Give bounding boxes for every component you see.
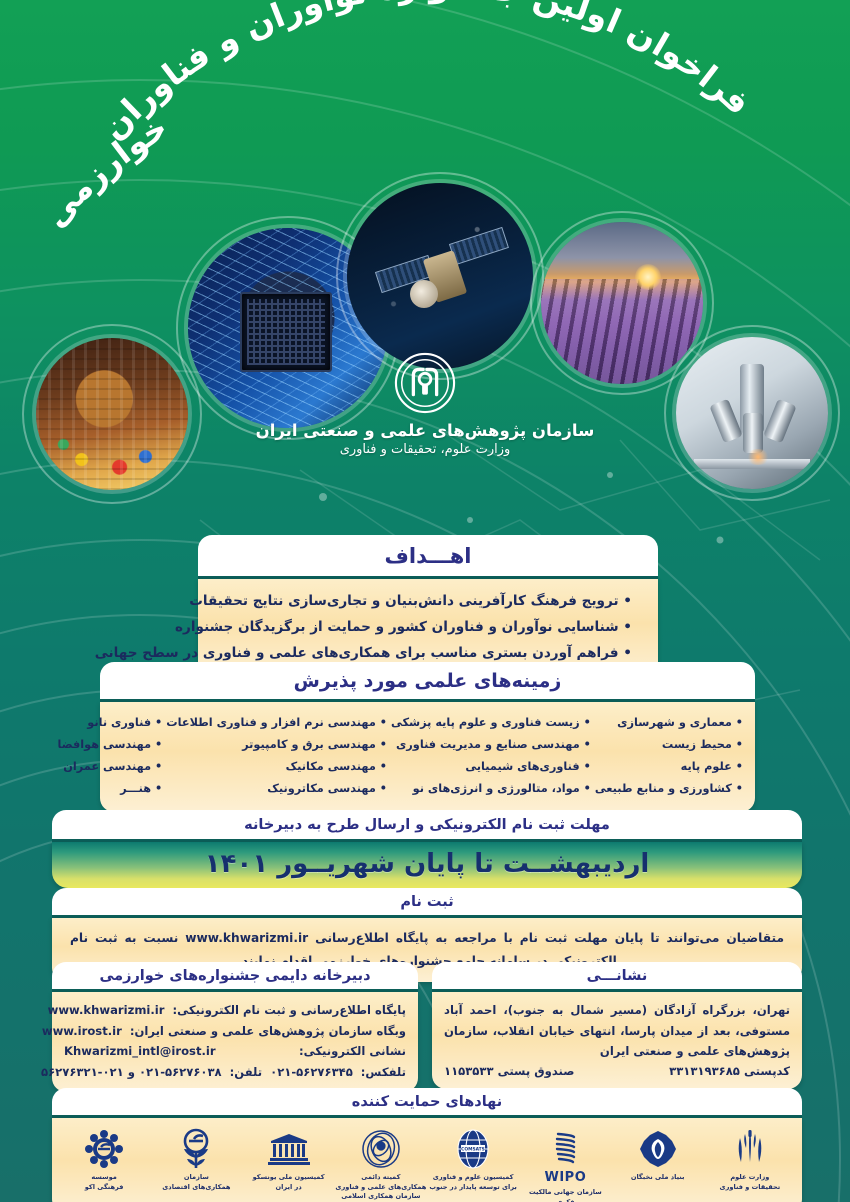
goal-item: ترویج فرهنگ کارآفرینی دانش‌بنیان و تجاری…	[224, 589, 632, 615]
field-item: فناوری‌های شیمیایی	[391, 756, 591, 778]
field-item: مهندسی برق و کامپیوتر	[166, 734, 387, 756]
eco-organization-icon	[150, 1128, 242, 1170]
sponsor-item: موسسه فرهنگی اکو	[58, 1128, 150, 1192]
fields-title: زمینه‌های علمی مورد پذیرش	[100, 662, 755, 699]
sponsor-item: سازمان همکاری‌های اقتصادی	[150, 1128, 242, 1192]
sun-glow	[635, 264, 661, 290]
organization-block: سازمان پژوهش‌های علمی و صنعتی ایران وزار…	[0, 352, 850, 459]
postcode-value: ۳۳۱۳۱۹۳۶۸۵	[669, 1064, 740, 1078]
title-line-2: خوارزمی	[35, 107, 174, 234]
satellite-photo	[347, 183, 533, 369]
deadline-value: اردیبهشــت تا پایان شهریــور ۱۴۰۱	[205, 849, 650, 879]
goal-item: شناسایی نوآوران و فناوران کشور و حمایت ا…	[224, 615, 632, 641]
deadline-panel: مهلت ثبت نام الکترونیکی و ارسال طرح به د…	[52, 810, 802, 888]
secretariat-panel: دبیرخانه دایمی جشنواره‌های خوارزمی پایگا…	[52, 962, 418, 1092]
title-line-1: فراخوان اولین جشنواره نوآوران و فناوران	[94, 0, 759, 147]
secretariat-key: پایگاه اطلاع‌رسانی و ثبت نام الکترونیکی:	[173, 1000, 407, 1021]
sponsor-caption: سازمان همکاری‌های اقتصادی	[150, 1173, 242, 1192]
svg-text:COMSATS: COMSATS	[461, 1147, 485, 1153]
fields-column-1: معماری و شهرسازی محیط زیست علوم پایه کشا…	[595, 712, 743, 800]
secretariat-row: نشانی الکترونیکی: Khwarizmi_intl@irost.i…	[64, 1041, 406, 1062]
fields-column-4: فناوری نانو مهندسی هوافضا مهندسی عمران ه…	[58, 712, 163, 800]
comstech-spiral-icon	[335, 1128, 427, 1170]
sponsor-item: COMSATS کمیسیون علوم و فناوری برای توسعه…	[427, 1128, 519, 1192]
organization-name: سازمان پژوهش‌های علمی و صنعتی ایران	[0, 420, 850, 441]
pobox: صندوق پستی ۱۱۵۳۵۳۳	[444, 1064, 574, 1078]
wipo-wordmark: WIPO	[519, 1170, 611, 1185]
phone-label: تلفن:	[230, 1062, 263, 1083]
field-item: هنـــر	[58, 778, 163, 800]
secretariat-key: نشانی الکترونیکی:	[299, 1041, 406, 1062]
irost-logo-icon	[394, 352, 456, 414]
svg-text:خوارزمی: خوارزمی	[35, 107, 174, 234]
deadline-banner: اردیبهشــت تا پایان شهریــور ۱۴۰۱	[52, 842, 802, 888]
solar-panel-right	[449, 227, 509, 265]
field-item: فناوری نانو	[58, 712, 163, 734]
sponsor-item: کمیسیون ملی یونسکو در ایران	[243, 1128, 335, 1192]
secretariat-title: دبیرخانه دایمی جشنواره‌های خوارزمی	[52, 962, 418, 989]
field-item: زیست فناوری و علوم پایه پزشکی	[391, 712, 591, 734]
phone-value: ۰۲۱-۵۶۲۷۶۰۳۸ و ۰۲۱-۵۶۲۷۶۳۲۱	[41, 1062, 222, 1083]
sponsor-caption: موسسه فرهنگی اکو	[58, 1173, 150, 1192]
fax-label: تلفکس:	[361, 1062, 406, 1083]
sponsor-caption: بنیاد ملی نخبگان	[612, 1173, 704, 1183]
website-link[interactable]: www.irost.ir	[42, 1021, 122, 1042]
postcode-label: کدپستی	[744, 1064, 790, 1078]
unesco-icon	[243, 1128, 335, 1170]
sponsor-item: کمیته دائمی همکاری‌های علمی و فناوری ساز…	[335, 1128, 427, 1202]
svg-text:فراخوان اولین جشنواره نوآوران: فراخوان اولین جشنواره نوآوران و فناوران	[94, 0, 759, 147]
goals-title: اهـــداف	[198, 535, 658, 576]
field-item: مواد، متالورژی و انرژی‌های نو	[391, 778, 591, 800]
registration-title: ثبت نام	[52, 888, 802, 915]
field-item: مهندسی نرم افزار و فناوری اطلاعات	[166, 712, 387, 734]
goals-panel: اهـــداف ترویج فرهنگ کارآفرینی دانش‌بنیا…	[198, 535, 658, 678]
address-body: تهران، بزرگراه آزادگان (مسیر شمال به جنو…	[432, 992, 802, 1089]
sponsor-caption: کمیسیون ملی یونسکو در ایران	[243, 1173, 335, 1192]
sponsor-caption: سازمان جهانی مالکیت فکری	[519, 1188, 611, 1202]
secretariat-row: پایگاه اطلاع‌رسانی و ثبت نام الکترونیکی:…	[64, 1000, 406, 1021]
poster-canvas: فراخوان اولین جشنواره نوآوران و فناوران …	[0, 0, 850, 1202]
secretariat-body: پایگاه اطلاع‌رسانی و ثبت نام الکترونیکی:…	[52, 992, 418, 1092]
sponsor-caption: کمیته دائمی همکاری‌های علمی و فناوری ساز…	[335, 1173, 427, 1202]
ministry-name: وزارت علوم، تحقیقات و فناوری	[0, 442, 850, 459]
goals-list: ترویج فرهنگ کارآفرینی دانش‌بنیان و تجاری…	[224, 589, 632, 666]
fields-column-3: مهندسی نرم افزار و فناوری اطلاعات مهندسی…	[166, 712, 387, 800]
field-item: مهندسی مکانیک	[166, 756, 387, 778]
email-link[interactable]: Khwarizmi_intl@irost.ir	[64, 1041, 216, 1062]
eco-flower-icon	[58, 1128, 150, 1170]
sponsor-item: WIPO سازمان جهانی مالکیت فکری	[519, 1128, 611, 1202]
address-panel: نشانـــی تهران، بزرگراه آزادگان (مسیر شم…	[432, 962, 802, 1089]
sponsor-caption: کمیسیون علوم و فناوری برای توسعه پایدار …	[427, 1173, 519, 1192]
field-item: مهندسی هوافضا	[58, 734, 163, 756]
sponsors-body: وزارت علوم تحقیقات و فناوری بنیاد ملی نخ…	[52, 1118, 802, 1202]
field-item: علوم پایه	[595, 756, 743, 778]
field-item: کشاورزی و منابع طبیعی	[595, 778, 743, 800]
wipo-icon	[519, 1128, 611, 1170]
comsats-globe-icon: COMSATS	[427, 1128, 519, 1170]
sponsor-caption: وزارت علوم تحقیقات و فناوری	[704, 1173, 796, 1192]
fields-body: معماری و شهرسازی محیط زیست علوم پایه کشا…	[100, 702, 755, 812]
ministry-science-icon	[704, 1128, 796, 1170]
satellite-dish	[410, 280, 438, 308]
field-item: محیط زیست	[595, 734, 743, 756]
fax-value: ۰۲۱-۵۶۲۷۶۳۴۵	[270, 1062, 353, 1083]
secretariat-key: وبگاه سازمان پژوهش‌های علمی و صنعتی ایرا…	[130, 1021, 406, 1042]
fields-panel: زمینه‌های علمی مورد پذیرش معماری و شهرسا…	[100, 662, 755, 812]
postcode: کدپستی ۳۳۱۳۱۹۳۶۸۵	[669, 1064, 790, 1078]
national-elites-icon	[612, 1128, 704, 1170]
pobox-value: ۱۱۵۳۵۳۳	[444, 1064, 494, 1078]
sponsors-panel: نهادهای حمایت کننده	[52, 1088, 802, 1202]
field-item: مهندسی عمران	[58, 756, 163, 778]
field-item: معماری و شهرسازی	[595, 712, 743, 734]
secretariat-contact-row: تلفکس: ۰۲۱-۵۶۲۷۶۳۴۵ تلفن: ۰۲۱-۵۶۲۷۶۰۳۸ و…	[64, 1062, 406, 1083]
sponsors-title: نهادهای حمایت کننده	[52, 1088, 802, 1115]
field-item: مهندسی صنایع و مدیریت فناوری	[391, 734, 591, 756]
fields-column-2: زیست فناوری و علوم پایه پزشکی مهندسی صنا…	[391, 712, 591, 800]
address-title: نشانـــی	[432, 962, 802, 989]
secretariat-row: وبگاه سازمان پژوهش‌های علمی و صنعتی ایرا…	[64, 1021, 406, 1042]
sponsor-item: بنیاد ملی نخبگان	[612, 1128, 704, 1183]
website-link[interactable]: www.khwarizmi.ir	[48, 1000, 165, 1021]
address-text: تهران، بزرگراه آزادگان (مسیر شمال به جنو…	[444, 1000, 790, 1062]
sponsor-item: وزارت علوم تحقیقات و فناوری	[704, 1128, 796, 1192]
field-item: مهندسی مکاترونیک	[166, 778, 387, 800]
deadline-title: مهلت ثبت نام الکترونیکی و ارسال طرح به د…	[52, 810, 802, 839]
pobox-label: صندوق پستی	[498, 1064, 575, 1078]
